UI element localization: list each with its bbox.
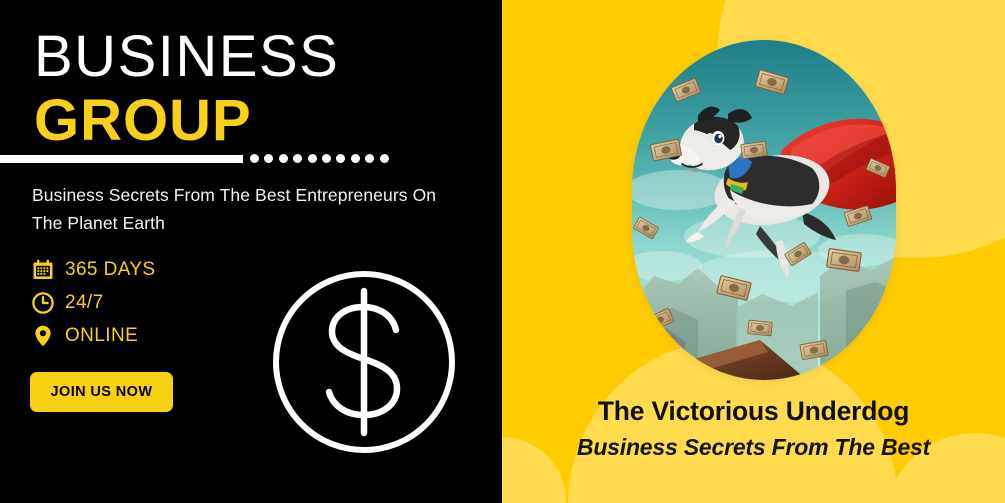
brand-title-line1: BUSINESS xyxy=(34,28,339,86)
clock-icon xyxy=(30,290,56,316)
feature-list: 365 DAYS 24/7 ONLINE xyxy=(30,255,270,354)
left-black-panel: BUSINESS GROUP Business Secrets From The… xyxy=(0,0,502,503)
location-pin-icon xyxy=(30,323,56,349)
brand-title-line2: GROUP xyxy=(34,92,252,150)
divider xyxy=(0,152,380,166)
feature-item-online: ONLINE xyxy=(30,321,270,351)
divider-dot xyxy=(336,154,345,163)
divider-dot xyxy=(351,154,360,163)
feature-item-365-days: 365 DAYS xyxy=(30,255,270,285)
divider-dot xyxy=(279,154,288,163)
divider-dot xyxy=(365,154,374,163)
divider-dot xyxy=(380,154,389,163)
tagline-text: Business Secrets From The Best Entrepren… xyxy=(32,182,462,237)
feature-label: 24/7 xyxy=(65,292,104,314)
divider-dot xyxy=(308,154,317,163)
divider-dot xyxy=(322,154,331,163)
feature-label: ONLINE xyxy=(65,325,138,347)
caption-subtitle: Business Secrets From The Best xyxy=(502,434,1005,461)
divider-dot xyxy=(250,154,259,163)
divider-dot xyxy=(293,154,302,163)
divider-bar xyxy=(0,155,243,163)
divider-dot xyxy=(264,154,273,163)
caption-title: The Victorious Underdog xyxy=(502,396,1005,427)
calendar-icon xyxy=(30,257,56,283)
feature-item-24-7: 24/7 xyxy=(30,288,270,318)
promo-banner: BUSINESS GROUP Business Secrets From The… xyxy=(0,0,1005,503)
join-us-now-button[interactable]: JOIN US NOW xyxy=(30,372,173,412)
dollar-sign-circle-icon xyxy=(270,268,458,456)
right-yellow-panel: The Victorious Underdog Business Secrets… xyxy=(502,0,1005,503)
feature-label: 365 DAYS xyxy=(65,259,156,281)
flying-caped-dog-with-money-image xyxy=(632,40,896,380)
divider-dots xyxy=(250,154,389,163)
